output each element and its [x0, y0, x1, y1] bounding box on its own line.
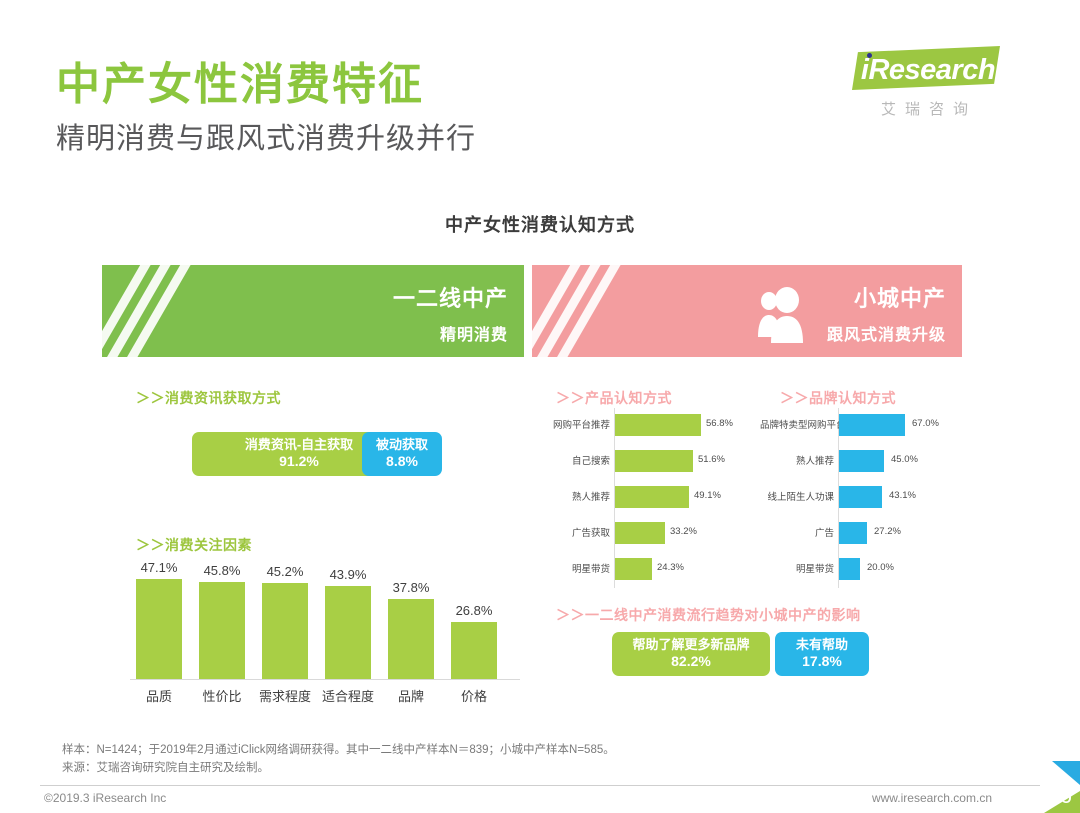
bar-row: 明星带货 24.3%	[536, 552, 748, 588]
bar-row: 自己搜索 51.6%	[536, 444, 748, 480]
logo-dot-icon	[867, 53, 872, 58]
pill-label: 未有帮助	[796, 637, 848, 653]
bar-value-label: 51.6%	[698, 454, 725, 465]
panel-title-smalltown: 小城中产	[854, 281, 946, 313]
page-title: 中产女性消费特征	[56, 48, 424, 112]
stripe-decoration	[102, 265, 155, 357]
pill-label: 帮助了解更多新品牌	[632, 637, 749, 653]
panel-header-smalltown: 小城中产 跟风式消费升级	[532, 265, 962, 357]
bar-category-label: 品质	[123, 686, 195, 705]
bar-category-label: 品牌特卖型网购平台	[760, 417, 834, 431]
horizontal-bar-chart-product-cognition: 网购平台推荐 56.8% 自己搜索 51.6% 熟人推荐 49.1% 广告获取 …	[536, 408, 748, 588]
bar-group: 45.8% 性价比	[199, 582, 245, 679]
pill-value: 8.8%	[386, 453, 418, 471]
bar-category-label: 需求程度	[249, 686, 321, 705]
bar	[325, 586, 371, 679]
bar-row: 广告 27.2%	[760, 516, 972, 552]
footnote-source: 来源：艾瑞咨询研究院自主研究及绘制。	[62, 760, 1022, 778]
footnote: 样本：N=1424；于2019年2月通过iClick网络调研获得。其中一二线中产…	[62, 742, 1022, 778]
bar	[136, 579, 182, 679]
bar	[451, 622, 497, 679]
bar-value-label: 67.0%	[912, 418, 939, 429]
bar-category-label: 网购平台推荐	[536, 417, 610, 431]
bar	[199, 582, 245, 679]
bar-group: 26.8% 价格	[451, 622, 497, 679]
pill-label: 被动获取	[376, 437, 428, 453]
bar-value-label: 20.0%	[867, 562, 894, 573]
bar-row: 线上陌生人功课 43.1%	[760, 480, 972, 516]
section-heading-product-cognition: ＞＞产品认知方式	[556, 388, 672, 408]
bar-row: 网购平台推荐 56.8%	[536, 408, 748, 444]
footer-divider	[40, 785, 1040, 786]
bar	[839, 558, 860, 580]
bar-category-label: 自己搜索	[536, 453, 610, 467]
bar-category-label: 性价比	[186, 686, 258, 705]
bar-value-label: 26.8%	[444, 603, 504, 618]
stripe-decoration	[532, 265, 585, 357]
bar-category-label: 品牌	[375, 686, 447, 705]
chart-baseline	[130, 679, 520, 680]
bar-group: 43.9% 适合程度	[325, 586, 371, 679]
chart-title: 中产女性消费认知方式	[0, 211, 1080, 237]
footnote-sample: 样本：N=1424；于2019年2月通过iClick网络调研获得。其中一二线中产…	[62, 742, 1022, 760]
bar-category-label: 线上陌生人功课	[760, 489, 834, 503]
bar-value-label: 56.8%	[706, 418, 733, 429]
bar	[388, 599, 434, 679]
pill-info-passive: 被动获取 8.8%	[362, 432, 442, 476]
pill-trend-helpful: 帮助了解更多新品牌 82.2%	[612, 632, 770, 676]
bar-row: 熟人推荐 45.0%	[760, 444, 972, 480]
bar	[839, 522, 867, 544]
page-subtitle: 精明消费与跟风式消费升级并行	[56, 115, 476, 157]
bar-category-label: 熟人推荐	[536, 489, 610, 503]
panel-tag-smalltown: 跟风式消费升级	[827, 321, 946, 345]
iresearch-logo: iResearch 艾瑞咨询	[852, 46, 1002, 128]
bar-row: 明星带货 20.0%	[760, 552, 972, 588]
bar-value-label: 47.1%	[129, 560, 189, 575]
bar-value-label: 45.2%	[255, 564, 315, 579]
bar-value-label: 24.3%	[657, 562, 684, 573]
section-heading-trend-influence: ＞＞一二线中产消费流行趋势对小城中产的影响	[556, 605, 861, 625]
bar-group: 47.1% 品质	[136, 579, 182, 679]
bar	[615, 522, 665, 544]
bar	[615, 558, 652, 580]
bar-group: 45.2% 需求程度	[262, 583, 308, 679]
bar-category-label: 明星带货	[536, 561, 610, 575]
bar-value-label: 43.9%	[318, 567, 378, 582]
section-heading-info-channel: ＞＞消费资讯获取方式	[136, 388, 281, 408]
footer-url: www.iresearch.com.cn	[872, 791, 992, 805]
bar-value-label: 43.1%	[889, 490, 916, 501]
bar-row: 熟人推荐 49.1%	[536, 480, 748, 516]
panel-tag-tier12: 精明消费	[440, 321, 508, 345]
people-icon	[750, 285, 812, 347]
bar-category-label: 明星带货	[760, 561, 834, 575]
bar-row: 品牌特卖型网购平台 67.0%	[760, 408, 972, 444]
pill-trend-nothelpful: 未有帮助 17.8%	[775, 632, 869, 676]
bar-category-label: 熟人推荐	[760, 453, 834, 467]
pill-value: 17.8%	[802, 653, 842, 671]
pill-label: 消费资讯-自主获取	[245, 437, 353, 453]
bar-value-label: 37.8%	[381, 580, 441, 595]
logo-chinese-name: 艾瑞咨询	[858, 98, 1000, 119]
bar	[839, 414, 905, 436]
bar-category-label: 广告获取	[536, 525, 610, 539]
pill-value: 91.2%	[279, 453, 319, 471]
bar-value-label: 33.2%	[670, 526, 697, 537]
bar	[615, 486, 689, 508]
bar-row: 广告获取 33.2%	[536, 516, 748, 552]
bar-value-label: 27.2%	[874, 526, 901, 537]
vertical-bar-chart-concern-factors: 47.1% 品质 45.8% 性价比 45.2% 需求程度 43.9% 适合程度…	[130, 555, 520, 705]
panel-title-tier12: 一二线中产	[393, 281, 508, 313]
bar-category-label: 广告	[760, 525, 834, 539]
bar	[839, 450, 884, 472]
page-number: 26	[1048, 783, 1072, 809]
bar-category-label: 适合程度	[312, 686, 384, 705]
section-heading-brand-cognition: ＞＞品牌认知方式	[780, 388, 896, 408]
panel-header-tier12: 一二线中产 精明消费	[102, 265, 524, 357]
bar-value-label: 45.0%	[891, 454, 918, 465]
horizontal-bar-chart-brand-cognition: 品牌特卖型网购平台 67.0% 熟人推荐 45.0% 线上陌生人功课 43.1%…	[760, 408, 972, 588]
section-heading-concern-factor: ＞＞消费关注因素	[136, 535, 252, 555]
bar	[615, 414, 701, 436]
bar-value-label: 49.1%	[694, 490, 721, 501]
bar-category-label: 价格	[438, 686, 510, 705]
bar-group: 37.8% 品牌	[388, 599, 434, 679]
footer-copyright: ©2019.3 iResearch Inc	[44, 791, 166, 805]
bar-value-label: 45.8%	[192, 563, 252, 578]
bar	[615, 450, 693, 472]
logo-wordmark: iResearch	[856, 50, 1000, 90]
bar	[262, 583, 308, 679]
pill-value: 82.2%	[671, 653, 711, 671]
bar	[839, 486, 882, 508]
